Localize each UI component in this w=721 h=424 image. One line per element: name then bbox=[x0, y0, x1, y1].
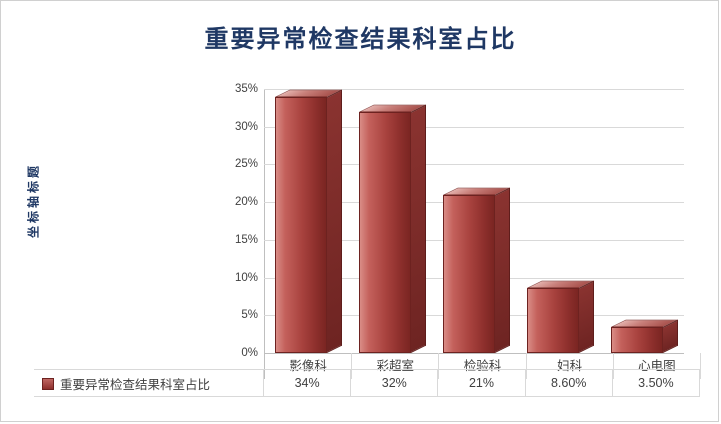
y-axis-title: 坐标轴标题 bbox=[25, 141, 42, 261]
chart-container: 重要异常检查结果科室占比 坐标轴标题 0%5%10%15%20%25%30%35… bbox=[0, 0, 719, 422]
bar-side-face bbox=[495, 187, 510, 353]
legend-series-label: 重要异常检查结果科室占比 bbox=[60, 374, 210, 393]
y-tick-label: 25% bbox=[235, 158, 258, 170]
y-tick-label: 0% bbox=[241, 347, 258, 359]
bar-front-face bbox=[611, 327, 663, 353]
data-table-value: 32% bbox=[351, 370, 438, 397]
plot-area: 0%5%10%15%20%25%30%35% bbox=[264, 89, 684, 353]
data-table-row: 重要异常检查结果科室占比 34%32%21%8.60%3.50% bbox=[34, 369, 700, 397]
bar-检验科[interactable] bbox=[443, 195, 495, 353]
bar-side-face bbox=[327, 89, 342, 353]
y-axis-line bbox=[264, 89, 265, 353]
bar-front-face bbox=[275, 97, 327, 353]
bar-front-face bbox=[359, 112, 411, 353]
y-tick-label: 30% bbox=[235, 121, 258, 133]
bar-side-face bbox=[411, 104, 426, 353]
y-tick-label: 10% bbox=[235, 272, 258, 284]
bar-心电图[interactable] bbox=[611, 327, 663, 353]
data-table-value: 21% bbox=[438, 370, 525, 397]
bar-影像科[interactable] bbox=[275, 97, 327, 353]
data-table-value: 3.50% bbox=[613, 370, 700, 397]
data-table-value: 8.60% bbox=[526, 370, 613, 397]
bar-front-face bbox=[527, 288, 579, 353]
legend-key: 重要异常检查结果科室占比 bbox=[34, 370, 264, 397]
bar-妇科[interactable] bbox=[527, 288, 579, 353]
bar-side-face bbox=[579, 281, 594, 353]
bar-彩超室[interactable] bbox=[359, 112, 411, 353]
y-tick-label: 5% bbox=[241, 309, 258, 321]
legend-color-swatch bbox=[42, 378, 54, 390]
bar-front-face bbox=[443, 195, 495, 353]
y-tick-label: 20% bbox=[235, 196, 258, 208]
y-tick-label: 35% bbox=[235, 83, 258, 95]
data-table-value: 34% bbox=[264, 370, 351, 397]
y-tick-label: 15% bbox=[235, 234, 258, 246]
chart-title: 重要异常检查结果科室占比 bbox=[1, 19, 720, 54]
